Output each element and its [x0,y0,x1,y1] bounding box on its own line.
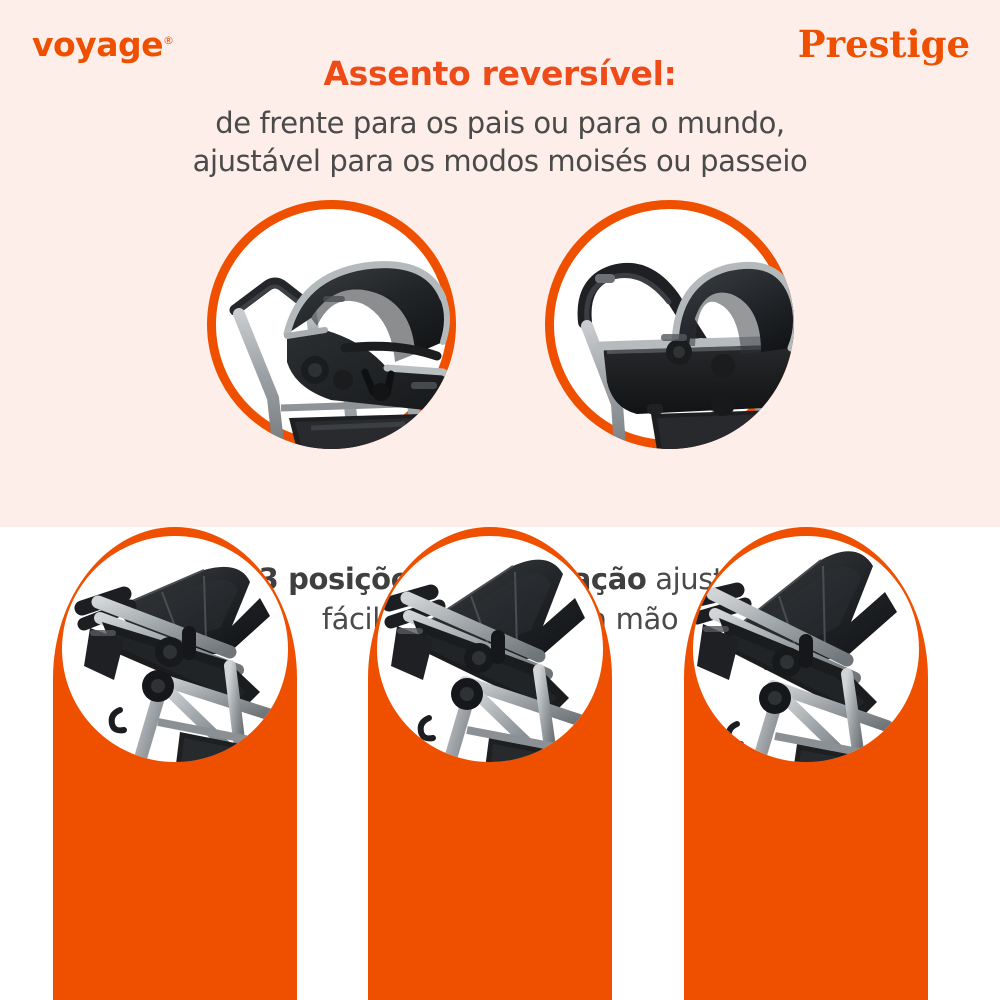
bottom-circle-recline-position-2 [377,536,603,762]
recline-position-2-photo [377,540,603,762]
registered-trademark-icon: ® [163,34,174,47]
top-circle-stroller-bassinet-mode [545,200,794,449]
top-subheadline-line2: ajustável para os modos moisés ou passei… [0,142,1000,180]
recline-position-1-photo [62,542,288,762]
bottom-column-recline-position-1 [53,527,297,1000]
top-pink-panel: voyage® Prestige Assento reversível: de … [0,0,1000,527]
bottom-circle-recline-position-3 [693,536,919,762]
top-headline: Assento reversível: [0,54,1000,93]
bottom-column-recline-position-3 [684,527,928,1000]
bottom-circle-recline-position-1 [62,536,288,762]
product-infographic: voyage® Prestige Assento reversível: de … [0,0,1000,1000]
stroller-seat-mode-photo [215,222,456,449]
recline-position-3-photo [693,538,919,762]
stroller-bassinet-mode-photo [551,226,794,449]
bottom-white-panel: 3 posições de inclinação ajuste fácil co… [0,527,1000,1000]
top-circle-2-clip [545,200,794,449]
top-circle-stroller-seat-mode [207,200,456,449]
top-subheadline-line1: de frente para os pais ou para o mundo, [0,104,1000,142]
top-circle-1-clip [207,200,456,449]
top-subheadline: de frente para os pais ou para o mundo, … [0,104,1000,181]
bottom-column-recline-position-2 [368,527,612,1000]
